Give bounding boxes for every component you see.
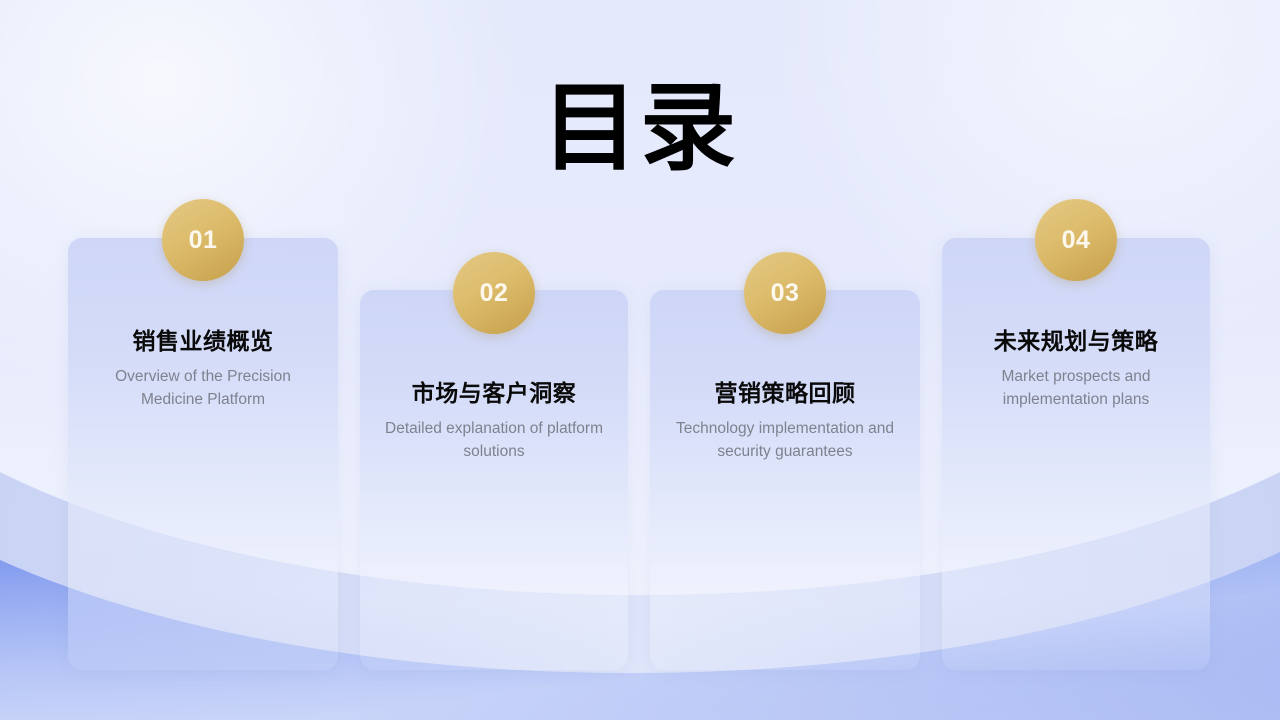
toc-card-title: 销售业绩概览 xyxy=(84,326,322,356)
toc-card-title: 市场与客户洞察 xyxy=(376,378,612,408)
toc-number-label: 03 xyxy=(771,279,800,308)
toc-card-subtitle: Detailed explanation of platform solutio… xyxy=(376,417,612,463)
toc-number-label: 04 xyxy=(1062,226,1091,255)
toc-card-subtitle: Market prospects and implementation plan… xyxy=(958,365,1194,411)
toc-card-01[interactable]: 销售业绩概览 Overview of the Precision Medicin… xyxy=(68,238,338,670)
toc-card-02[interactable]: 市场与客户洞察 Detailed explanation of platform… xyxy=(360,290,628,670)
toc-number-badge-01[interactable]: 01 xyxy=(162,199,244,281)
toc-card-03[interactable]: 营销策略回顾 Technology implementation and sec… xyxy=(650,290,920,670)
page-title: 目录 xyxy=(0,76,1280,182)
toc-card-title: 未来规划与策略 xyxy=(958,326,1194,356)
toc-number-badge-03[interactable]: 03 xyxy=(744,252,826,334)
toc-number-badge-04[interactable]: 04 xyxy=(1035,199,1117,281)
toc-card-subtitle: Technology implementation and security g… xyxy=(666,417,904,463)
toc-card-04[interactable]: 未来规划与策略 Market prospects and implementat… xyxy=(942,238,1210,670)
toc-number-label: 01 xyxy=(189,226,218,255)
toc-number-badge-02[interactable]: 02 xyxy=(453,252,535,334)
toc-card-title: 营销策略回顾 xyxy=(666,378,904,408)
slide-canvas: 目录 销售业绩概览 Overview of the Precision Medi… xyxy=(0,0,1280,720)
toc-card-subtitle: Overview of the Precision Medicine Platf… xyxy=(84,365,322,411)
toc-number-label: 02 xyxy=(480,279,509,308)
